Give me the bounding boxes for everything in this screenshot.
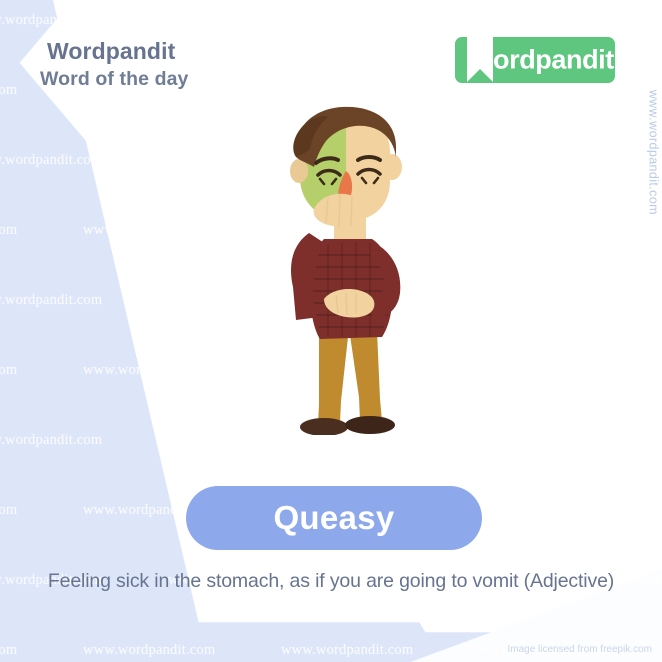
word-badge[interactable]: Queasy — [186, 486, 482, 550]
definition-text: Feeling sick in the stomach, as if you a… — [0, 570, 662, 593]
wordpandit-logo[interactable]: ordpandit — [455, 37, 615, 83]
brand-block: Wordpandit Word of the day — [40, 38, 188, 91]
side-watermark-url: www.wordpandit.com — [646, 90, 660, 215]
brand-subtitle: Word of the day — [40, 68, 188, 91]
brand-title: Wordpandit — [40, 38, 188, 65]
nauseated-man-illustration — [262, 105, 432, 435]
word-of-the-day-card: www.wordpandit.comwww.wordpandit.comwww.… — [0, 0, 662, 662]
word-text: Queasy — [273, 499, 394, 537]
logo-text: ordpandit — [493, 45, 614, 76]
bookmark-icon — [467, 28, 493, 82]
image-credit: Image licensed from freepik.com — [507, 644, 652, 655]
